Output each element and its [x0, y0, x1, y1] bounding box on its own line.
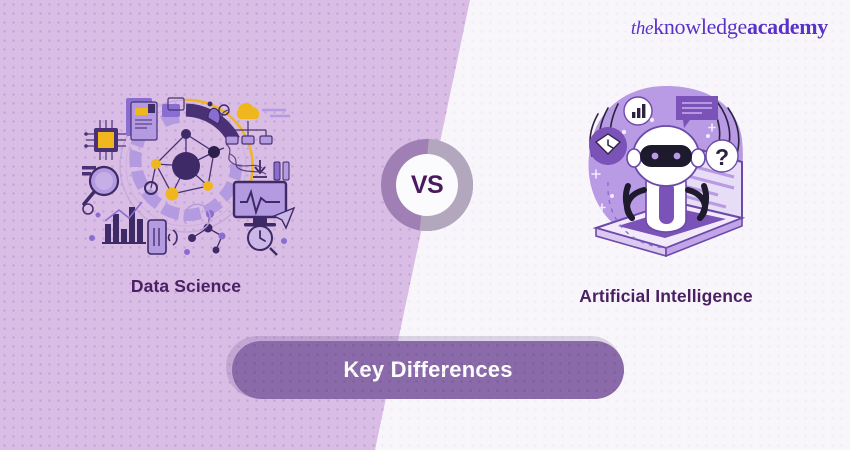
artificial-intelligence-illustration: ?	[566, 78, 766, 268]
question-badge-icon: ?	[706, 140, 738, 172]
versus-badge: VS	[381, 139, 473, 231]
mail-clock-badge-icon	[589, 127, 627, 165]
data-science-graphic	[74, 78, 299, 258]
bar-chart-icon	[102, 202, 146, 243]
clock-icon	[248, 226, 277, 255]
versus-label: VS	[411, 171, 443, 200]
comparison-banner: theknowledgeacademy	[0, 0, 850, 450]
key-differences-pill[interactable]: Key Differences	[232, 341, 624, 399]
right-panel-label: Artificial Intelligence	[516, 286, 816, 307]
download-icon	[253, 160, 267, 177]
right-comparison-panel: ?	[516, 78, 816, 307]
cpu-chip-icon	[84, 120, 126, 160]
logo-knowledge: knowledge	[653, 14, 747, 39]
logo-academy: academy	[747, 14, 828, 39]
monitor-waveform-icon	[234, 182, 286, 227]
brand-logo[interactable]: theknowledgeacademy	[631, 14, 828, 40]
svg-text:?: ?	[715, 144, 729, 170]
chart-badge-icon	[624, 97, 652, 125]
key-differences-label: Key Differences	[343, 357, 512, 383]
mobile-signal-icon	[148, 220, 177, 254]
report-icon	[126, 98, 157, 140]
data-science-illustration	[74, 78, 299, 258]
left-comparison-panel: Data Science	[36, 78, 336, 297]
versus-inner-circle: VS	[396, 154, 458, 216]
logo-the: the	[631, 18, 653, 39]
ai-robot-graphic: ?	[566, 78, 766, 268]
left-panel-label: Data Science	[36, 276, 336, 297]
